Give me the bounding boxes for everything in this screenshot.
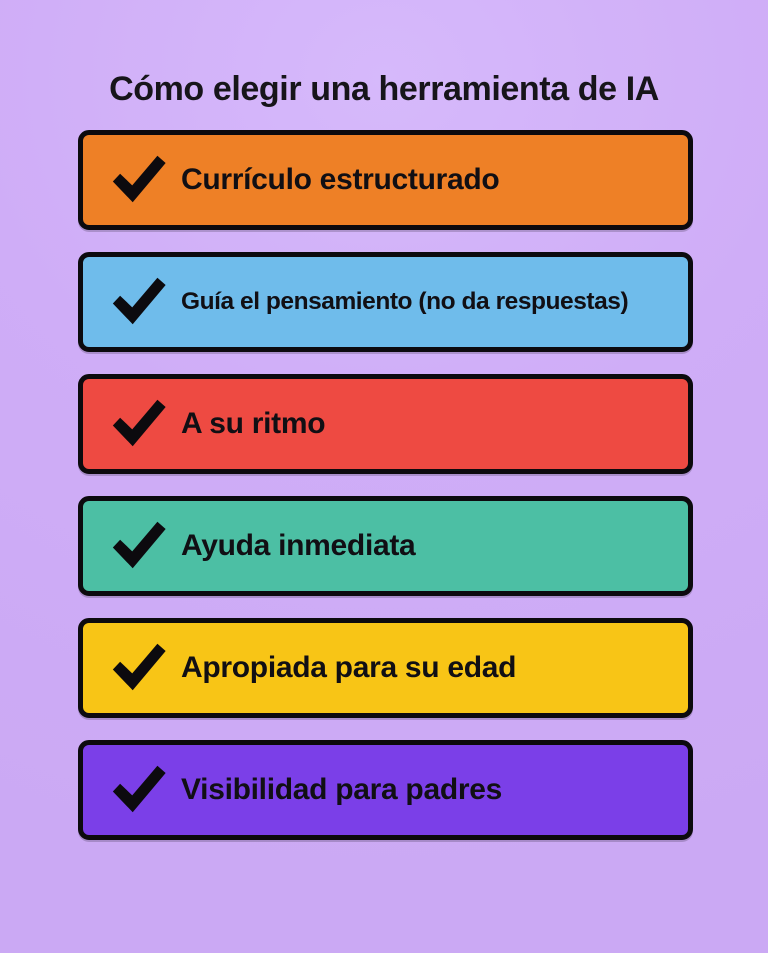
checklist-item-2[interactable]: Guía el pensamiento (no da respuestas) xyxy=(78,252,693,352)
checklist-item-6[interactable]: Visibilidad para padres xyxy=(78,740,693,840)
checkmark-icon xyxy=(103,266,175,338)
checklist-item-label: Apropiada para su edad xyxy=(181,651,688,685)
checkmark-icon xyxy=(103,510,175,582)
checklist-item-label: Ayuda inmediata xyxy=(181,529,688,563)
checklist-item-label: Currículo estructurado xyxy=(181,163,688,197)
checklist-item-label: A su ritmo xyxy=(181,407,688,441)
checklist: Currículo estructurado Guía el pensamien… xyxy=(78,130,693,840)
checklist-item-5[interactable]: Apropiada para su edad xyxy=(78,618,693,718)
checkmark-icon xyxy=(103,144,175,216)
checkmark-icon xyxy=(103,754,175,826)
checklist-item-4[interactable]: Ayuda inmediata xyxy=(78,496,693,596)
checklist-item-label: Visibilidad para padres xyxy=(181,773,688,807)
checkmark-icon xyxy=(103,632,175,704)
infographic-poster: Cómo elegir una herramienta de IA Curríc… xyxy=(0,0,768,953)
checkmark-icon xyxy=(103,388,175,460)
checklist-item-3[interactable]: A su ritmo xyxy=(78,374,693,474)
checklist-item-label: Guía el pensamiento (no da respuestas) xyxy=(181,288,688,316)
page-title: Cómo elegir una herramienta de IA xyxy=(0,66,768,112)
checklist-item-1[interactable]: Currículo estructurado xyxy=(78,130,693,230)
